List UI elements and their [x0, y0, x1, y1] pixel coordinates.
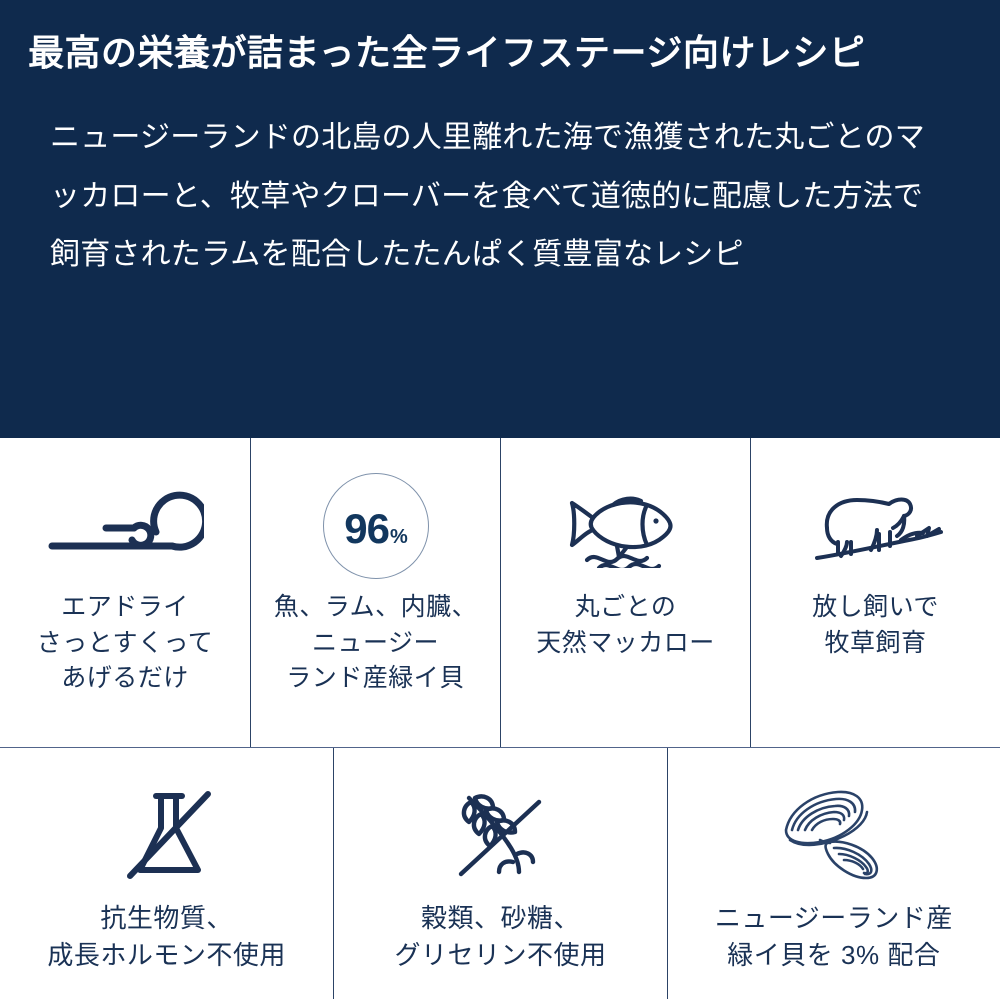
hero-description: ニュージーランドの北島の人里離れた海で漁獲された丸ごとのマッカローと、牧草やクロ… — [28, 109, 972, 285]
product-feature-poster: 最高の栄養が詰まった全ライフステージ向けレシピ ニュージーランドの北島の人里離れ… — [0, 0, 1000, 1000]
feature-row-top: エアドライ さっとすくって あげるだけ 96 % 魚、ラム、内臓、 ニュージー … — [0, 438, 1000, 748]
feature-label: エアドライ さっとすくって あげるだけ — [37, 590, 214, 697]
feature-label: 放し飼いで 牧草飼育 — [812, 590, 939, 661]
mussel-icon — [772, 778, 896, 890]
page-title: 最高の栄養が詰まった全ライフステージ向けレシピ — [28, 30, 972, 75]
feature-cell-ingredients: 96 % 魚、ラム、内臓、 ニュージー ランド産緑イ貝 — [250, 438, 500, 747]
feature-cell-no-grain: 穀類、砂糖、 グリセリン不使用 — [333, 748, 666, 999]
feature-label: ニュージーランド産 緑イ貝を 3% 配合 — [715, 900, 953, 974]
percent-badge-icon: 96 % — [323, 472, 429, 580]
feature-cell-mackerel: 丸ごとの 天然マッカロー — [500, 438, 750, 747]
feature-row-bottom: 抗生物質、 成長ホルモン不使用 — [0, 748, 1000, 999]
fish-icon — [563, 472, 689, 580]
percent-badge: 96 % — [323, 473, 429, 579]
hero-section: 最高の栄養が詰まった全ライフステージ向けレシピ ニュージーランドの北島の人里離れ… — [0, 0, 1000, 438]
feature-cell-air-dry: エアドライ さっとすくって あげるだけ — [0, 438, 250, 747]
feature-label: 丸ごとの 天然マッカロー — [536, 590, 715, 661]
air-dry-scoop-icon — [46, 472, 204, 580]
feature-cell-grass-fed: 放し飼いで 牧草飼育 — [750, 438, 1000, 747]
feature-label: 抗生物質、 成長ホルモン不使用 — [47, 900, 286, 974]
badge-percent-sign: % — [390, 527, 408, 547]
feature-label: 魚、ラム、内臓、 ニュージー ランド産緑イ貝 — [274, 590, 477, 697]
feature-grid: エアドライ さっとすくって あげるだけ 96 % 魚、ラム、内臓、 ニュージー … — [0, 438, 1000, 1000]
feature-label: 穀類、砂糖、 グリセリン不使用 — [394, 900, 606, 974]
no-flask-icon — [112, 778, 222, 890]
sheep-icon — [805, 472, 947, 580]
feature-cell-no-antibiotics: 抗生物質、 成長ホルモン不使用 — [0, 748, 333, 999]
feature-cell-green-lipped-mussel: ニュージーランド産 緑イ貝を 3% 配合 — [667, 748, 1000, 999]
badge-number: 96 — [344, 508, 389, 550]
no-grain-icon — [445, 778, 555, 890]
